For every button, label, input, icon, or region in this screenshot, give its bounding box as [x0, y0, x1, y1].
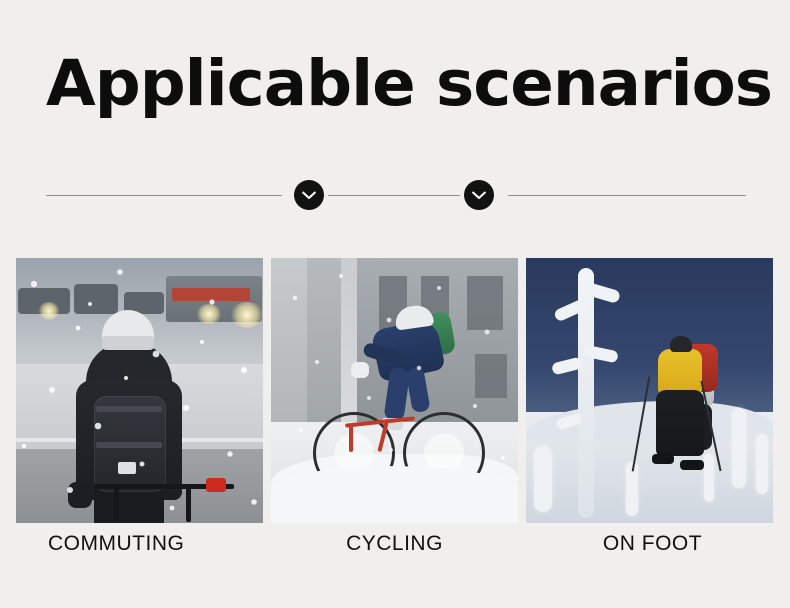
- headlight-glow: [38, 302, 60, 320]
- lead-hiker-figure: [636, 336, 728, 486]
- scenario-image-on-foot: [526, 258, 773, 523]
- truck-red-stripe: [172, 288, 250, 301]
- chevron-down-badge-two: [464, 180, 494, 210]
- rime-ice-formation: [534, 446, 552, 512]
- rime-ice-tree: [552, 268, 622, 518]
- scenario-caption-row: COMMUTING CYCLING ON FOOT: [16, 532, 774, 572]
- bicycle-frame: [186, 488, 191, 522]
- on-foot-illustration: [526, 258, 773, 523]
- hiking-boot: [680, 460, 704, 470]
- beanie-band: [102, 336, 154, 350]
- section-divider: [46, 176, 746, 214]
- hiking-jacket: [658, 349, 702, 395]
- applicable-scenarios-panel: Applicable scenarios: [0, 0, 790, 608]
- backpack-strap: [96, 442, 162, 448]
- divider-line-right: [508, 195, 746, 196]
- caption-commuting: COMMUTING: [16, 532, 263, 572]
- scenario-image-cycling: [271, 258, 518, 523]
- chevron-down-badge-one: [294, 180, 324, 210]
- building-window: [467, 276, 503, 330]
- divider-line-middle: [328, 195, 460, 196]
- headlight-glow: [230, 302, 263, 328]
- foreground-snow-drift: [271, 466, 518, 523]
- scenario-image-strip: [16, 258, 774, 523]
- chevron-down-icon: [302, 191, 316, 200]
- scenario-image-commuting: [16, 258, 263, 523]
- bicycle-frame: [349, 424, 353, 452]
- caption-cycling: CYCLING: [271, 532, 518, 572]
- page-title: Applicable scenarios: [46, 48, 760, 120]
- headlight-glow: [196, 304, 222, 324]
- chevron-down-icon: [472, 191, 486, 200]
- cyclist-glove: [351, 362, 369, 378]
- caption-on-foot: ON FOOT: [526, 532, 773, 572]
- rime-ice-formation: [732, 408, 746, 488]
- winter-hat: [670, 336, 692, 352]
- hiking-trousers: [656, 390, 704, 456]
- bicycle-rear-light: [206, 478, 226, 492]
- cycling-illustration: [271, 258, 518, 523]
- backpack-strap: [96, 406, 162, 412]
- divider-line-left: [46, 195, 282, 196]
- commuting-illustration: [16, 258, 263, 523]
- glove: [68, 482, 92, 508]
- bicycle: [94, 454, 244, 523]
- rime-ice-formation: [756, 434, 768, 494]
- bicycle-frame: [114, 488, 119, 522]
- hiking-boot: [652, 454, 674, 464]
- building-window: [475, 354, 507, 398]
